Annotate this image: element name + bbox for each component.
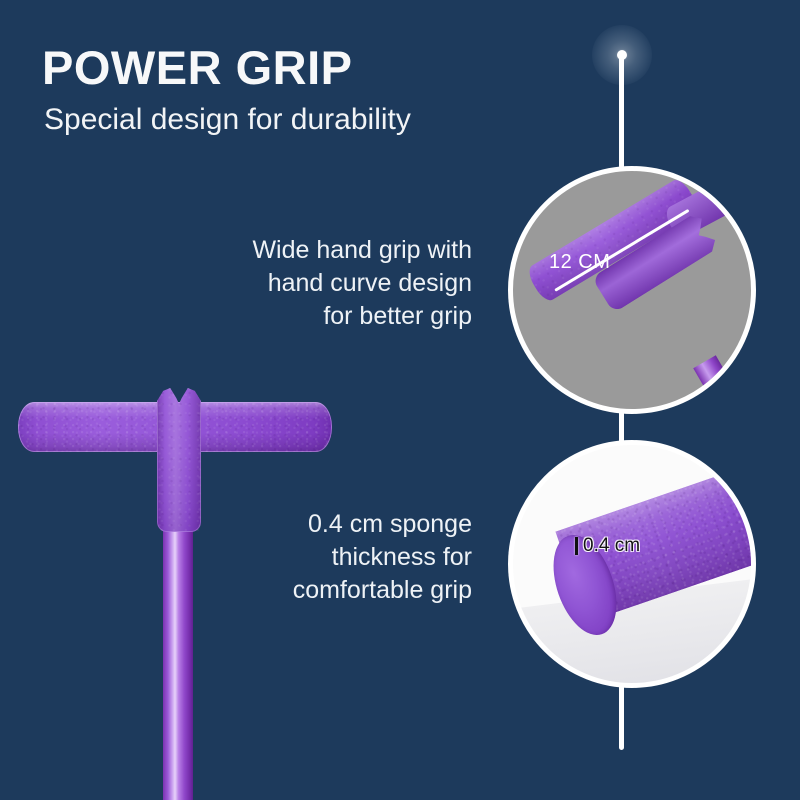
product-pole: [163, 520, 193, 800]
inset-sponge-thickness: 0.4 cm: [508, 440, 756, 688]
page-title: POWER GRIP: [42, 44, 472, 91]
product-feature-graphic: POWER GRIP Special design for durability…: [0, 0, 800, 800]
callout-line: hand curve design: [90, 267, 472, 300]
page-subtitle: Special design for durability: [44, 105, 472, 135]
connector-line-top: [619, 52, 624, 168]
inset-grip-length: 12 CM: [508, 166, 756, 414]
inset-grip-pole: [693, 355, 751, 414]
measure-label-12cm: 12 CM: [549, 251, 610, 274]
product-image-t-bar-grip: [0, 380, 360, 800]
headline-block: POWER GRIP Special design for durability: [42, 44, 472, 135]
callout-wide-hand-grip: Wide hand grip with hand curve design fo…: [90, 234, 472, 333]
callout-line: for better grip: [90, 300, 472, 333]
product-center-sleeve-foam: [157, 388, 201, 532]
measure-label-0-4cm: 0.4 cm: [583, 535, 640, 557]
measure-tick-0-4cm-icon: [575, 537, 578, 555]
callout-line: Wide hand grip with: [90, 234, 472, 267]
